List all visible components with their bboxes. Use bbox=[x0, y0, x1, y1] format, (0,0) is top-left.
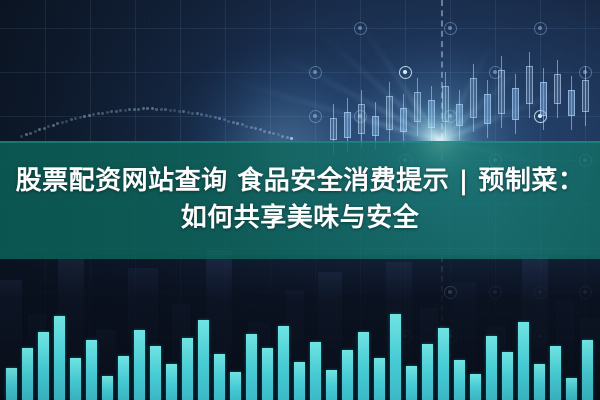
cyan-bar bbox=[518, 322, 529, 400]
cyan-bar bbox=[54, 316, 65, 400]
arc-dot bbox=[133, 108, 136, 111]
candlestick-body bbox=[526, 66, 533, 104]
candlestick-body bbox=[568, 90, 575, 116]
cyan-bar bbox=[550, 346, 561, 400]
cyan-bar bbox=[102, 376, 113, 400]
arc-dot bbox=[245, 125, 248, 128]
arc-dot bbox=[236, 122, 239, 125]
arc-dot bbox=[169, 109, 172, 112]
arc-dot bbox=[254, 127, 257, 130]
cyan-bar bbox=[470, 374, 481, 400]
cyan-bar bbox=[326, 370, 337, 400]
cyan-bar bbox=[374, 358, 385, 400]
arc-dot bbox=[196, 112, 199, 115]
arc-dot bbox=[277, 133, 280, 136]
cyan-bar bbox=[230, 372, 241, 400]
cyan-bar bbox=[310, 342, 321, 400]
cyan-bar bbox=[166, 364, 177, 400]
arc-dot bbox=[124, 109, 127, 112]
arc-dot bbox=[191, 112, 194, 115]
candlestick bbox=[512, 74, 519, 134]
cyan-bar bbox=[134, 330, 145, 400]
candlestick-body bbox=[372, 116, 379, 136]
candlestick-body bbox=[554, 74, 561, 104]
candlestick bbox=[554, 60, 561, 118]
arc-dot bbox=[232, 121, 235, 124]
cyan-bar bbox=[70, 358, 81, 400]
cyan-bar bbox=[38, 332, 49, 400]
arc-dot bbox=[52, 124, 55, 127]
arc-dot bbox=[79, 116, 82, 119]
arc-dot bbox=[56, 122, 59, 125]
cyan-bar bbox=[22, 348, 33, 400]
arc-dot bbox=[20, 135, 23, 138]
candlestick-body bbox=[582, 80, 589, 112]
arc-dot bbox=[259, 128, 262, 131]
arc-dot bbox=[74, 117, 77, 120]
arc-dot bbox=[92, 113, 95, 116]
arc-dot bbox=[137, 108, 140, 111]
arc-dot bbox=[178, 110, 181, 113]
cyan-bar bbox=[150, 346, 161, 400]
arc-dot bbox=[218, 117, 221, 120]
arc-dot bbox=[142, 107, 145, 110]
arc-dot bbox=[187, 111, 190, 114]
arc-dot bbox=[43, 127, 46, 130]
candlestick bbox=[568, 76, 575, 130]
cyan-bar bbox=[390, 314, 401, 400]
cyan-bar bbox=[86, 340, 97, 400]
arc-dot bbox=[70, 118, 73, 121]
cyan-bar bbox=[582, 340, 593, 400]
cyan-bar bbox=[278, 326, 289, 400]
arc-dot bbox=[83, 115, 86, 118]
cyan-bar bbox=[294, 362, 305, 400]
arc-dot bbox=[263, 130, 266, 133]
banner-title: 股票配资网站查询 食品安全消费提示 | 预制菜： 如何共享美味与安全 bbox=[0, 141, 600, 259]
arc-dot bbox=[115, 110, 118, 113]
title-line-1: 股票配资网站查询 食品安全消费提示 | 预制菜： bbox=[16, 166, 585, 197]
arc-dot bbox=[146, 107, 149, 110]
arc-dot bbox=[241, 123, 244, 126]
arc-dot bbox=[65, 120, 68, 123]
cyan-bar bbox=[262, 348, 273, 400]
candlestick bbox=[582, 66, 589, 126]
cyan-bar bbox=[486, 336, 497, 400]
arc-dot bbox=[223, 118, 226, 121]
arc-dot bbox=[200, 113, 203, 116]
arc-dot bbox=[88, 114, 91, 117]
cyan-bar bbox=[422, 344, 433, 400]
arc-dot bbox=[61, 121, 64, 124]
arc-dot bbox=[214, 116, 217, 119]
arc-dot bbox=[268, 131, 271, 134]
arc-dot bbox=[272, 132, 275, 135]
arc-dot bbox=[155, 108, 158, 111]
candlestick-body bbox=[330, 118, 337, 140]
arc-dot bbox=[29, 132, 32, 135]
cyan-bar bbox=[342, 350, 353, 400]
arc-dot bbox=[38, 128, 41, 131]
title-line-2: 如何共享美味与安全 bbox=[181, 203, 420, 234]
arc-dot bbox=[160, 108, 163, 111]
cyan-bar bbox=[566, 378, 577, 400]
candlestick bbox=[484, 80, 491, 138]
arc-dot bbox=[151, 107, 154, 110]
arc-dot bbox=[182, 110, 185, 113]
arc-dot bbox=[110, 110, 113, 113]
arc-dot bbox=[101, 112, 104, 115]
arc-dot bbox=[47, 125, 50, 128]
cyan-bar bbox=[246, 334, 257, 400]
cyan-bar bbox=[198, 320, 209, 400]
arc-dot bbox=[97, 112, 100, 115]
arc-dot bbox=[106, 111, 109, 114]
arc-dot bbox=[209, 115, 212, 118]
cyan-bar bbox=[6, 368, 17, 400]
arc-dot bbox=[128, 108, 131, 111]
arc-dot bbox=[281, 135, 284, 138]
cyan-bar bbox=[534, 364, 545, 400]
arc-dot bbox=[34, 130, 37, 133]
arc-dot bbox=[286, 136, 289, 139]
cyan-bar bbox=[358, 332, 369, 400]
arc-dot bbox=[119, 109, 122, 112]
arc-dot bbox=[205, 114, 208, 117]
cyan-bar bbox=[406, 366, 417, 400]
cyan-bar bbox=[214, 354, 225, 400]
banner-image: 股票配资网站查询 食品安全消费提示 | 预制菜： 如何共享美味与安全 bbox=[0, 0, 600, 400]
arc-dot bbox=[250, 126, 253, 129]
candlestick-body bbox=[498, 70, 505, 114]
cyan-bar bbox=[118, 356, 129, 400]
cyan-bar bbox=[182, 338, 193, 400]
candlestick-body bbox=[442, 86, 449, 122]
cyan-bar bbox=[454, 360, 465, 400]
arc-dot bbox=[164, 108, 167, 111]
arc-dot bbox=[173, 109, 176, 112]
arc-dot bbox=[227, 120, 230, 123]
arc-dot bbox=[290, 137, 293, 140]
cyan-bar bbox=[502, 352, 513, 400]
arc-dot bbox=[25, 133, 28, 136]
cyan-bar bbox=[438, 328, 449, 400]
candlestick-body bbox=[512, 88, 519, 120]
